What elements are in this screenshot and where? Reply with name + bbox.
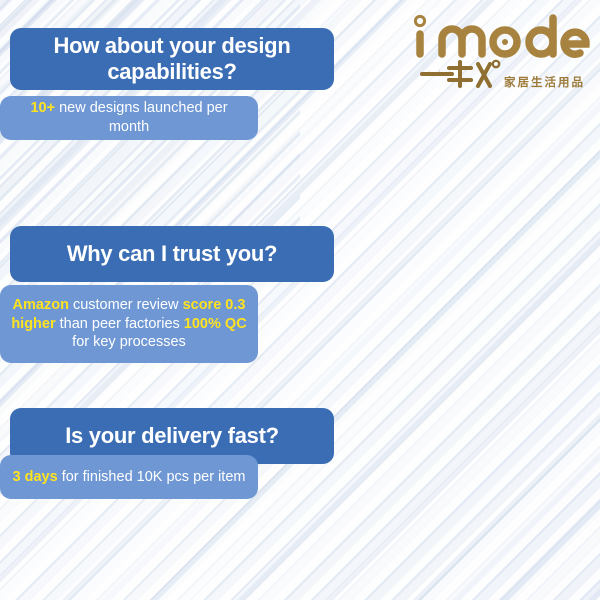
infographic-stage: · · · · 家居生活用品 How about your design cap… (0, 0, 600, 600)
answer-delivery-speed[interactable]: 3 days for finished 10K pcs per item (0, 455, 258, 499)
brand-tagline-cn: 家居生活用品 (504, 74, 585, 90)
answer-text: than peer factories (56, 316, 184, 332)
answer-text: new designs launched per month (55, 100, 228, 135)
answer-design-capabilities[interactable]: 10+ new designs launched per month (0, 96, 258, 140)
answer-highlight: 100% QC (184, 316, 247, 332)
question-design-capabilities[interactable]: How about your design capabilities? (10, 28, 334, 90)
brand-logo: · · · · 家居生活用品 (408, 8, 594, 100)
answer-trust[interactable]: Amazon customer review score 0.3 higher … (0, 285, 258, 363)
logo-dot-row: · · · · (428, 68, 464, 75)
answer-highlight: 10+ (30, 100, 55, 116)
answer-text: customer review (69, 297, 183, 313)
answer-text: for finished 10K pcs per item (58, 469, 246, 485)
question-trust[interactable]: Why can I trust you? (10, 226, 334, 282)
answer-highlight: 3 days (13, 469, 58, 485)
answer-highlight: Amazon (13, 297, 69, 313)
answer-text: for key processes (72, 334, 186, 350)
